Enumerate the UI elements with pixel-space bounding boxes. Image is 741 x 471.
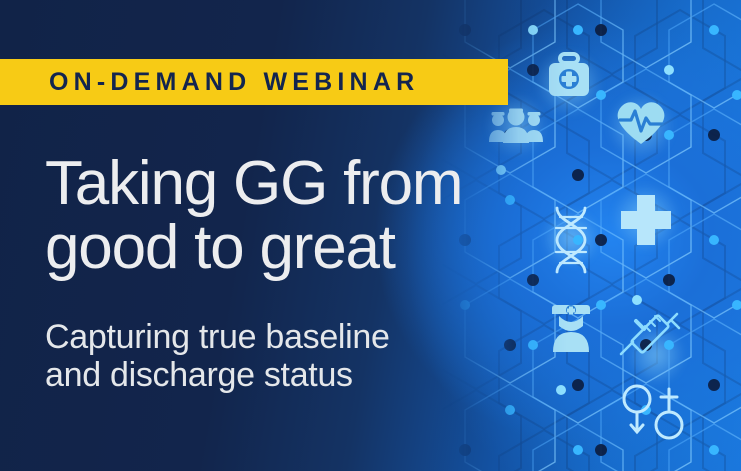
- gender-symbols-icon: [624, 386, 682, 438]
- doctor-icon: [552, 305, 590, 352]
- headline-title: Taking GG from good to great: [45, 152, 545, 280]
- subtitle-text: Capturing true baseline and discharge st…: [45, 318, 525, 394]
- eyebrow-banner: ON-DEMAND WEBINAR: [0, 59, 508, 105]
- webinar-promo-banner: ON-DEMAND WEBINAR Taking GG from good to…: [0, 0, 741, 471]
- eyebrow-label: ON-DEMAND WEBINAR: [0, 68, 419, 97]
